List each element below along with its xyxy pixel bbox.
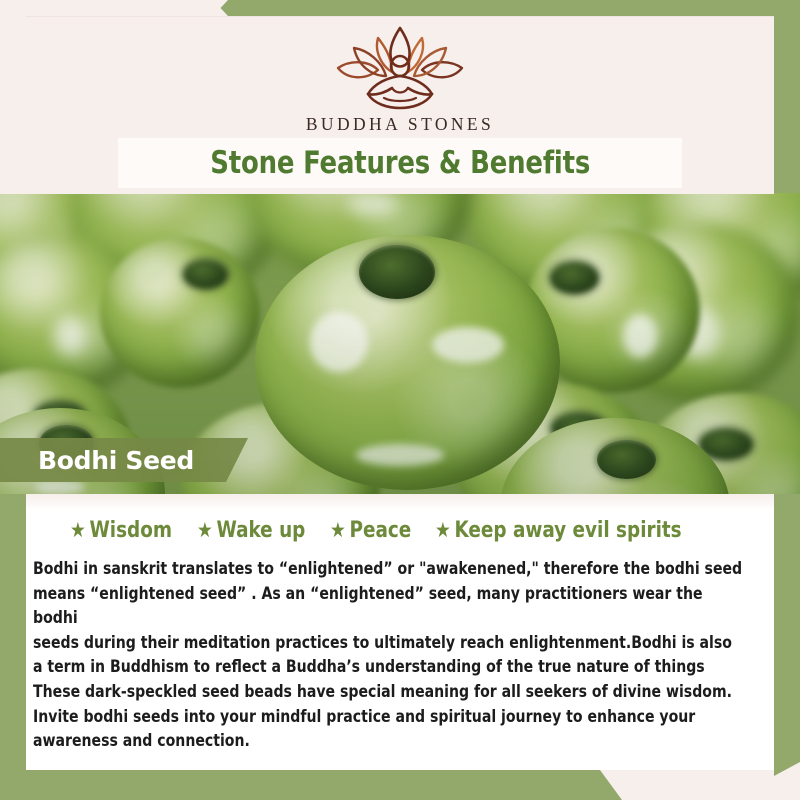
star-icon: ★ [330, 520, 346, 541]
description-line: means “enlightened seed” . As an “enligh… [33, 582, 744, 631]
star-icon: ★ [197, 520, 213, 541]
description-line: a term in Buddhism to reflect a Buddha’s… [33, 655, 744, 680]
page-title: Stone Features & Benefits [210, 145, 590, 181]
header: BUDDHA STONES Stone Features & Benefits [0, 0, 800, 194]
benefits-list: ★ Wisdom ★ Wake up ★ Peace ★ Keep away e… [70, 518, 770, 543]
star-icon: ★ [435, 520, 451, 541]
benefit-item-peace: ★ Peace [330, 518, 411, 543]
benefit-item-keep-away-evil-spirits: ★ Keep away evil spirits [435, 518, 682, 543]
description-line: seeds during their meditation practices … [33, 631, 744, 656]
description-line: Bodhi in sanskrit translates to “enlight… [33, 557, 744, 582]
description-line: Invite bodhi seeds into your mindful pra… [33, 705, 744, 730]
photo-caption-banner: Bodhi Seed [0, 438, 248, 482]
description-line: These dark-speckled seed beads have spec… [33, 680, 744, 705]
photo-caption-label: Bodhi Seed [38, 446, 194, 475]
description-paragraph: Bodhi in sanskrit translates to “enlight… [33, 557, 744, 754]
benefit-item-wisdom: ★ Wisdom [70, 518, 172, 543]
header-divider [26, 16, 774, 17]
benefit-label: Keep away evil spirits [454, 518, 681, 543]
benefit-item-wake-up: ★ Wake up [197, 518, 305, 543]
brand-logo: BUDDHA STONES [0, 22, 800, 135]
lotus-meditation-logo-icon [316, 22, 484, 110]
title-bar: Stone Features & Benefits [118, 138, 682, 188]
benefit-label: Peace [350, 518, 412, 543]
brand-name: BUDDHA STONES [306, 114, 494, 135]
description-line: awareness and connection. [33, 729, 744, 754]
decor-bottom-bar [0, 770, 800, 800]
star-icon: ★ [70, 520, 86, 541]
benefit-label: Wisdom [89, 518, 172, 543]
content-top-fade [26, 494, 774, 510]
benefit-label: Wake up [216, 518, 305, 543]
product-info-card: BUDDHA STONES Stone Features & Benefits [0, 0, 800, 800]
product-photo: Bodhi Seed [0, 193, 800, 494]
content-panel: ★ Wisdom ★ Wake up ★ Peace ★ Keep away e… [26, 494, 774, 770]
